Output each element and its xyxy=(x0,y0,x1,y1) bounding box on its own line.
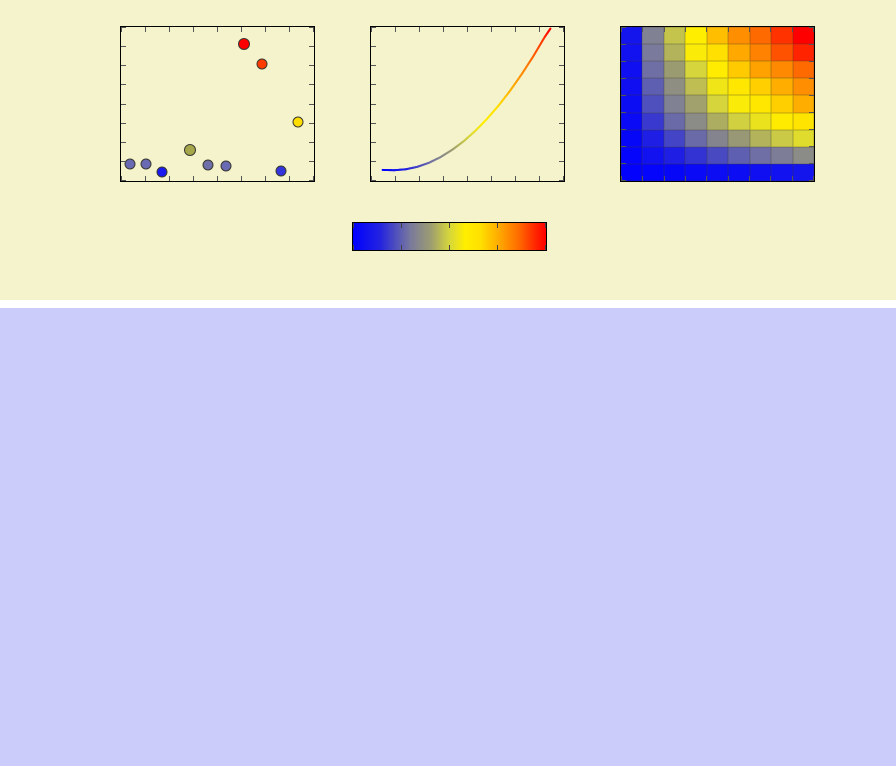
heatmap-cell xyxy=(707,95,728,112)
axis-tick xyxy=(770,176,771,181)
axis-tick xyxy=(467,176,468,181)
heatmap-cell xyxy=(793,44,814,61)
heatmap-cell xyxy=(685,44,706,61)
heatmap-grid xyxy=(621,27,814,181)
axis-tick xyxy=(309,123,314,124)
heatmap-cell xyxy=(621,130,642,147)
heatmap-cell xyxy=(750,164,771,181)
axis-tick xyxy=(371,84,376,85)
axis-tick xyxy=(121,142,126,143)
axis-tick xyxy=(395,176,396,181)
heatmap-cell xyxy=(728,164,749,181)
axis-tick xyxy=(809,95,814,96)
heatmap-cell xyxy=(793,27,814,44)
axis-tick xyxy=(443,176,444,181)
axis-tick xyxy=(621,146,626,147)
heatmap-cell xyxy=(707,78,728,95)
heatmap-cell xyxy=(707,164,728,181)
heatmap-plot-area xyxy=(621,27,814,181)
heatmap-cell xyxy=(707,27,728,44)
axis-tick xyxy=(809,78,814,79)
heatmap-cell xyxy=(664,27,685,44)
heatmap-cell xyxy=(728,61,749,78)
scatter-marker xyxy=(202,159,213,170)
heatmap-cell xyxy=(793,164,814,181)
axis-tick xyxy=(621,129,626,130)
colorbar-tick xyxy=(353,245,354,250)
axis-tick xyxy=(621,163,626,164)
heatmap-cell xyxy=(771,44,792,61)
heatmap-cell xyxy=(621,164,642,181)
scatter-marker xyxy=(156,167,167,178)
axis-tick xyxy=(265,27,266,32)
heatmap-cell xyxy=(664,164,685,181)
colorbar-tick xyxy=(353,223,354,228)
line-plot-curve xyxy=(371,27,564,181)
heatmap-cell xyxy=(771,130,792,147)
heatmap-cell xyxy=(707,147,728,164)
heatmap-cell xyxy=(750,61,771,78)
axis-tick xyxy=(241,27,242,32)
heatmap-cell xyxy=(750,113,771,130)
heatmap-cell xyxy=(642,164,663,181)
scatter-marker xyxy=(293,117,304,128)
heatmap-cell xyxy=(664,130,685,147)
axis-tick xyxy=(559,161,564,162)
heatmap-cell xyxy=(642,130,663,147)
axis-tick xyxy=(371,180,376,181)
axis-tick xyxy=(642,27,643,32)
colorbar-tick xyxy=(497,245,498,250)
axis-tick xyxy=(559,46,564,47)
axis-tick xyxy=(621,61,626,62)
axis-tick xyxy=(217,176,218,181)
axis-tick xyxy=(706,176,707,181)
heatmap-cell xyxy=(728,130,749,147)
axis-tick xyxy=(621,44,626,45)
heatmap-cell xyxy=(750,44,771,61)
heatmap-cell xyxy=(750,147,771,164)
axis-tick xyxy=(217,27,218,32)
axis-tick xyxy=(309,84,314,85)
heatmap-cell xyxy=(750,95,771,112)
axis-tick xyxy=(559,104,564,105)
axis-tick xyxy=(313,27,314,32)
axis-tick xyxy=(559,84,564,85)
axis-tick xyxy=(419,176,420,181)
scatter-marker xyxy=(141,158,152,169)
axis-tick xyxy=(749,27,750,32)
heatmap-axes xyxy=(620,26,815,182)
axis-tick xyxy=(169,176,170,181)
axis-tick xyxy=(491,176,492,181)
scatter-marker xyxy=(184,144,196,156)
axis-tick xyxy=(121,104,126,105)
axis-tick xyxy=(559,180,564,181)
axis-tick xyxy=(539,27,540,32)
colorbar-tick xyxy=(401,223,402,228)
axis-tick xyxy=(309,65,314,66)
axis-tick xyxy=(515,27,516,32)
axis-tick xyxy=(792,27,793,32)
axis-tick xyxy=(621,180,626,181)
heatmap-cell xyxy=(621,78,642,95)
axis-tick xyxy=(809,61,814,62)
axis-tick xyxy=(309,104,314,105)
heatmap-cell xyxy=(793,130,814,147)
heatmap-cell xyxy=(793,147,814,164)
scatter-plot-area xyxy=(121,27,314,181)
figure-canvas xyxy=(0,0,896,300)
heatmap-cell xyxy=(793,95,814,112)
heatmap-cell xyxy=(728,147,749,164)
axis-tick xyxy=(792,176,793,181)
lower-panel xyxy=(0,308,896,766)
heatmap-cell xyxy=(771,164,792,181)
axis-tick xyxy=(559,123,564,124)
axis-tick xyxy=(621,27,626,28)
heatmap-cell xyxy=(621,113,642,130)
heatmap-cell xyxy=(621,44,642,61)
axis-tick xyxy=(371,27,376,28)
axis-tick xyxy=(706,27,707,32)
axis-tick xyxy=(193,27,194,32)
axis-tick xyxy=(809,163,814,164)
colorbar-tick xyxy=(545,223,546,228)
axis-tick xyxy=(371,142,376,143)
axis-tick xyxy=(664,27,665,32)
axis-tick xyxy=(309,46,314,47)
heatmap-cell xyxy=(664,78,685,95)
heatmap-cell xyxy=(685,113,706,130)
heatmap-cell xyxy=(685,147,706,164)
heatmap-cell xyxy=(771,147,792,164)
axis-tick xyxy=(621,78,626,79)
axis-tick xyxy=(491,27,492,32)
heatmap-cell xyxy=(685,164,706,181)
heatmap-cell xyxy=(642,44,663,61)
axis-tick xyxy=(371,46,376,47)
axis-tick xyxy=(515,176,516,181)
axis-tick xyxy=(371,65,376,66)
heatmap-cell xyxy=(642,95,663,112)
heatmap-cell xyxy=(728,113,749,130)
heatmap-cell xyxy=(664,147,685,164)
axis-tick xyxy=(539,176,540,181)
heatmap-cell xyxy=(664,113,685,130)
axis-tick xyxy=(728,27,729,32)
axis-tick xyxy=(121,46,126,47)
axis-tick xyxy=(145,27,146,32)
colorbar-tick xyxy=(545,245,546,250)
heatmap-cell xyxy=(728,95,749,112)
axis-tick xyxy=(169,27,170,32)
line-plot-area xyxy=(371,27,564,181)
scatter-marker xyxy=(257,59,268,70)
axis-tick xyxy=(371,104,376,105)
scatter-plot-axes xyxy=(120,26,315,182)
colorbar-tick xyxy=(497,223,498,228)
heatmap-cell xyxy=(793,113,814,130)
axis-tick xyxy=(559,142,564,143)
colorbar-tick xyxy=(449,245,450,250)
axis-tick xyxy=(809,129,814,130)
axis-tick xyxy=(664,176,665,181)
heatmap-cell xyxy=(664,61,685,78)
heatmap-cell xyxy=(685,130,706,147)
heatmap-cell xyxy=(728,27,749,44)
colorbar-tick xyxy=(449,223,450,228)
axis-tick xyxy=(289,27,290,32)
axis-tick xyxy=(728,176,729,181)
heatmap-cell xyxy=(771,61,792,78)
axis-tick xyxy=(121,123,126,124)
axis-tick xyxy=(371,123,376,124)
heatmap-cell xyxy=(771,95,792,112)
axis-tick xyxy=(289,176,290,181)
scatter-marker xyxy=(238,38,250,50)
heatmap-cell xyxy=(771,113,792,130)
heatmap-cell xyxy=(793,78,814,95)
axis-tick xyxy=(121,180,126,181)
axis-tick xyxy=(145,176,146,181)
line-plot-axes xyxy=(370,26,565,182)
axis-tick xyxy=(241,176,242,181)
heatmap-cell xyxy=(707,113,728,130)
axis-tick xyxy=(309,180,314,181)
heatmap-cell xyxy=(621,61,642,78)
axis-tick xyxy=(685,176,686,181)
axis-tick xyxy=(809,180,814,181)
axis-tick xyxy=(685,27,686,32)
axis-tick xyxy=(809,112,814,113)
axis-tick xyxy=(193,176,194,181)
heatmap-cell xyxy=(728,78,749,95)
heatmap-cell xyxy=(642,61,663,78)
heatmap-cell xyxy=(621,147,642,164)
axis-tick xyxy=(309,161,314,162)
heatmap-cell xyxy=(621,95,642,112)
heatmap-cell xyxy=(750,27,771,44)
heatmap-cell xyxy=(642,113,663,130)
axis-tick xyxy=(419,27,420,32)
heatmap-cell xyxy=(664,44,685,61)
scatter-marker xyxy=(275,166,286,177)
heatmap-cell xyxy=(771,27,792,44)
heatmap-cell xyxy=(621,27,642,44)
axis-tick xyxy=(621,112,626,113)
heatmap-cell xyxy=(685,61,706,78)
axis-tick xyxy=(121,161,126,162)
axis-tick xyxy=(121,84,126,85)
axis-tick xyxy=(467,27,468,32)
axis-tick xyxy=(121,27,126,28)
axis-tick xyxy=(621,95,626,96)
axis-tick xyxy=(642,176,643,181)
colorbar-axes xyxy=(352,222,547,251)
heatmap-cell xyxy=(685,27,706,44)
heatmap-cell xyxy=(707,130,728,147)
axis-tick xyxy=(559,65,564,66)
axis-tick xyxy=(809,44,814,45)
axis-tick xyxy=(371,161,376,162)
heatmap-cell xyxy=(685,95,706,112)
heatmap-cell xyxy=(642,27,663,44)
heatmap-cell xyxy=(707,61,728,78)
axis-tick xyxy=(563,27,564,32)
heatmap-cell xyxy=(728,44,749,61)
axis-tick xyxy=(770,27,771,32)
colorbar-tick xyxy=(401,245,402,250)
heatmap-cell xyxy=(793,61,814,78)
axis-tick xyxy=(395,27,396,32)
axis-tick xyxy=(443,27,444,32)
heatmap-cell xyxy=(685,78,706,95)
scatter-marker xyxy=(221,160,232,171)
heatmap-cell xyxy=(771,78,792,95)
heatmap-cell xyxy=(707,44,728,61)
heatmap-cell xyxy=(642,147,663,164)
axis-tick xyxy=(813,27,814,32)
axis-tick xyxy=(309,142,314,143)
axis-tick xyxy=(121,65,126,66)
axis-tick xyxy=(265,176,266,181)
heatmap-cell xyxy=(664,95,685,112)
heatmap-cell xyxy=(750,78,771,95)
axis-tick xyxy=(809,146,814,147)
heatmap-cell xyxy=(642,78,663,95)
heatmap-cell xyxy=(750,130,771,147)
axis-tick xyxy=(749,176,750,181)
